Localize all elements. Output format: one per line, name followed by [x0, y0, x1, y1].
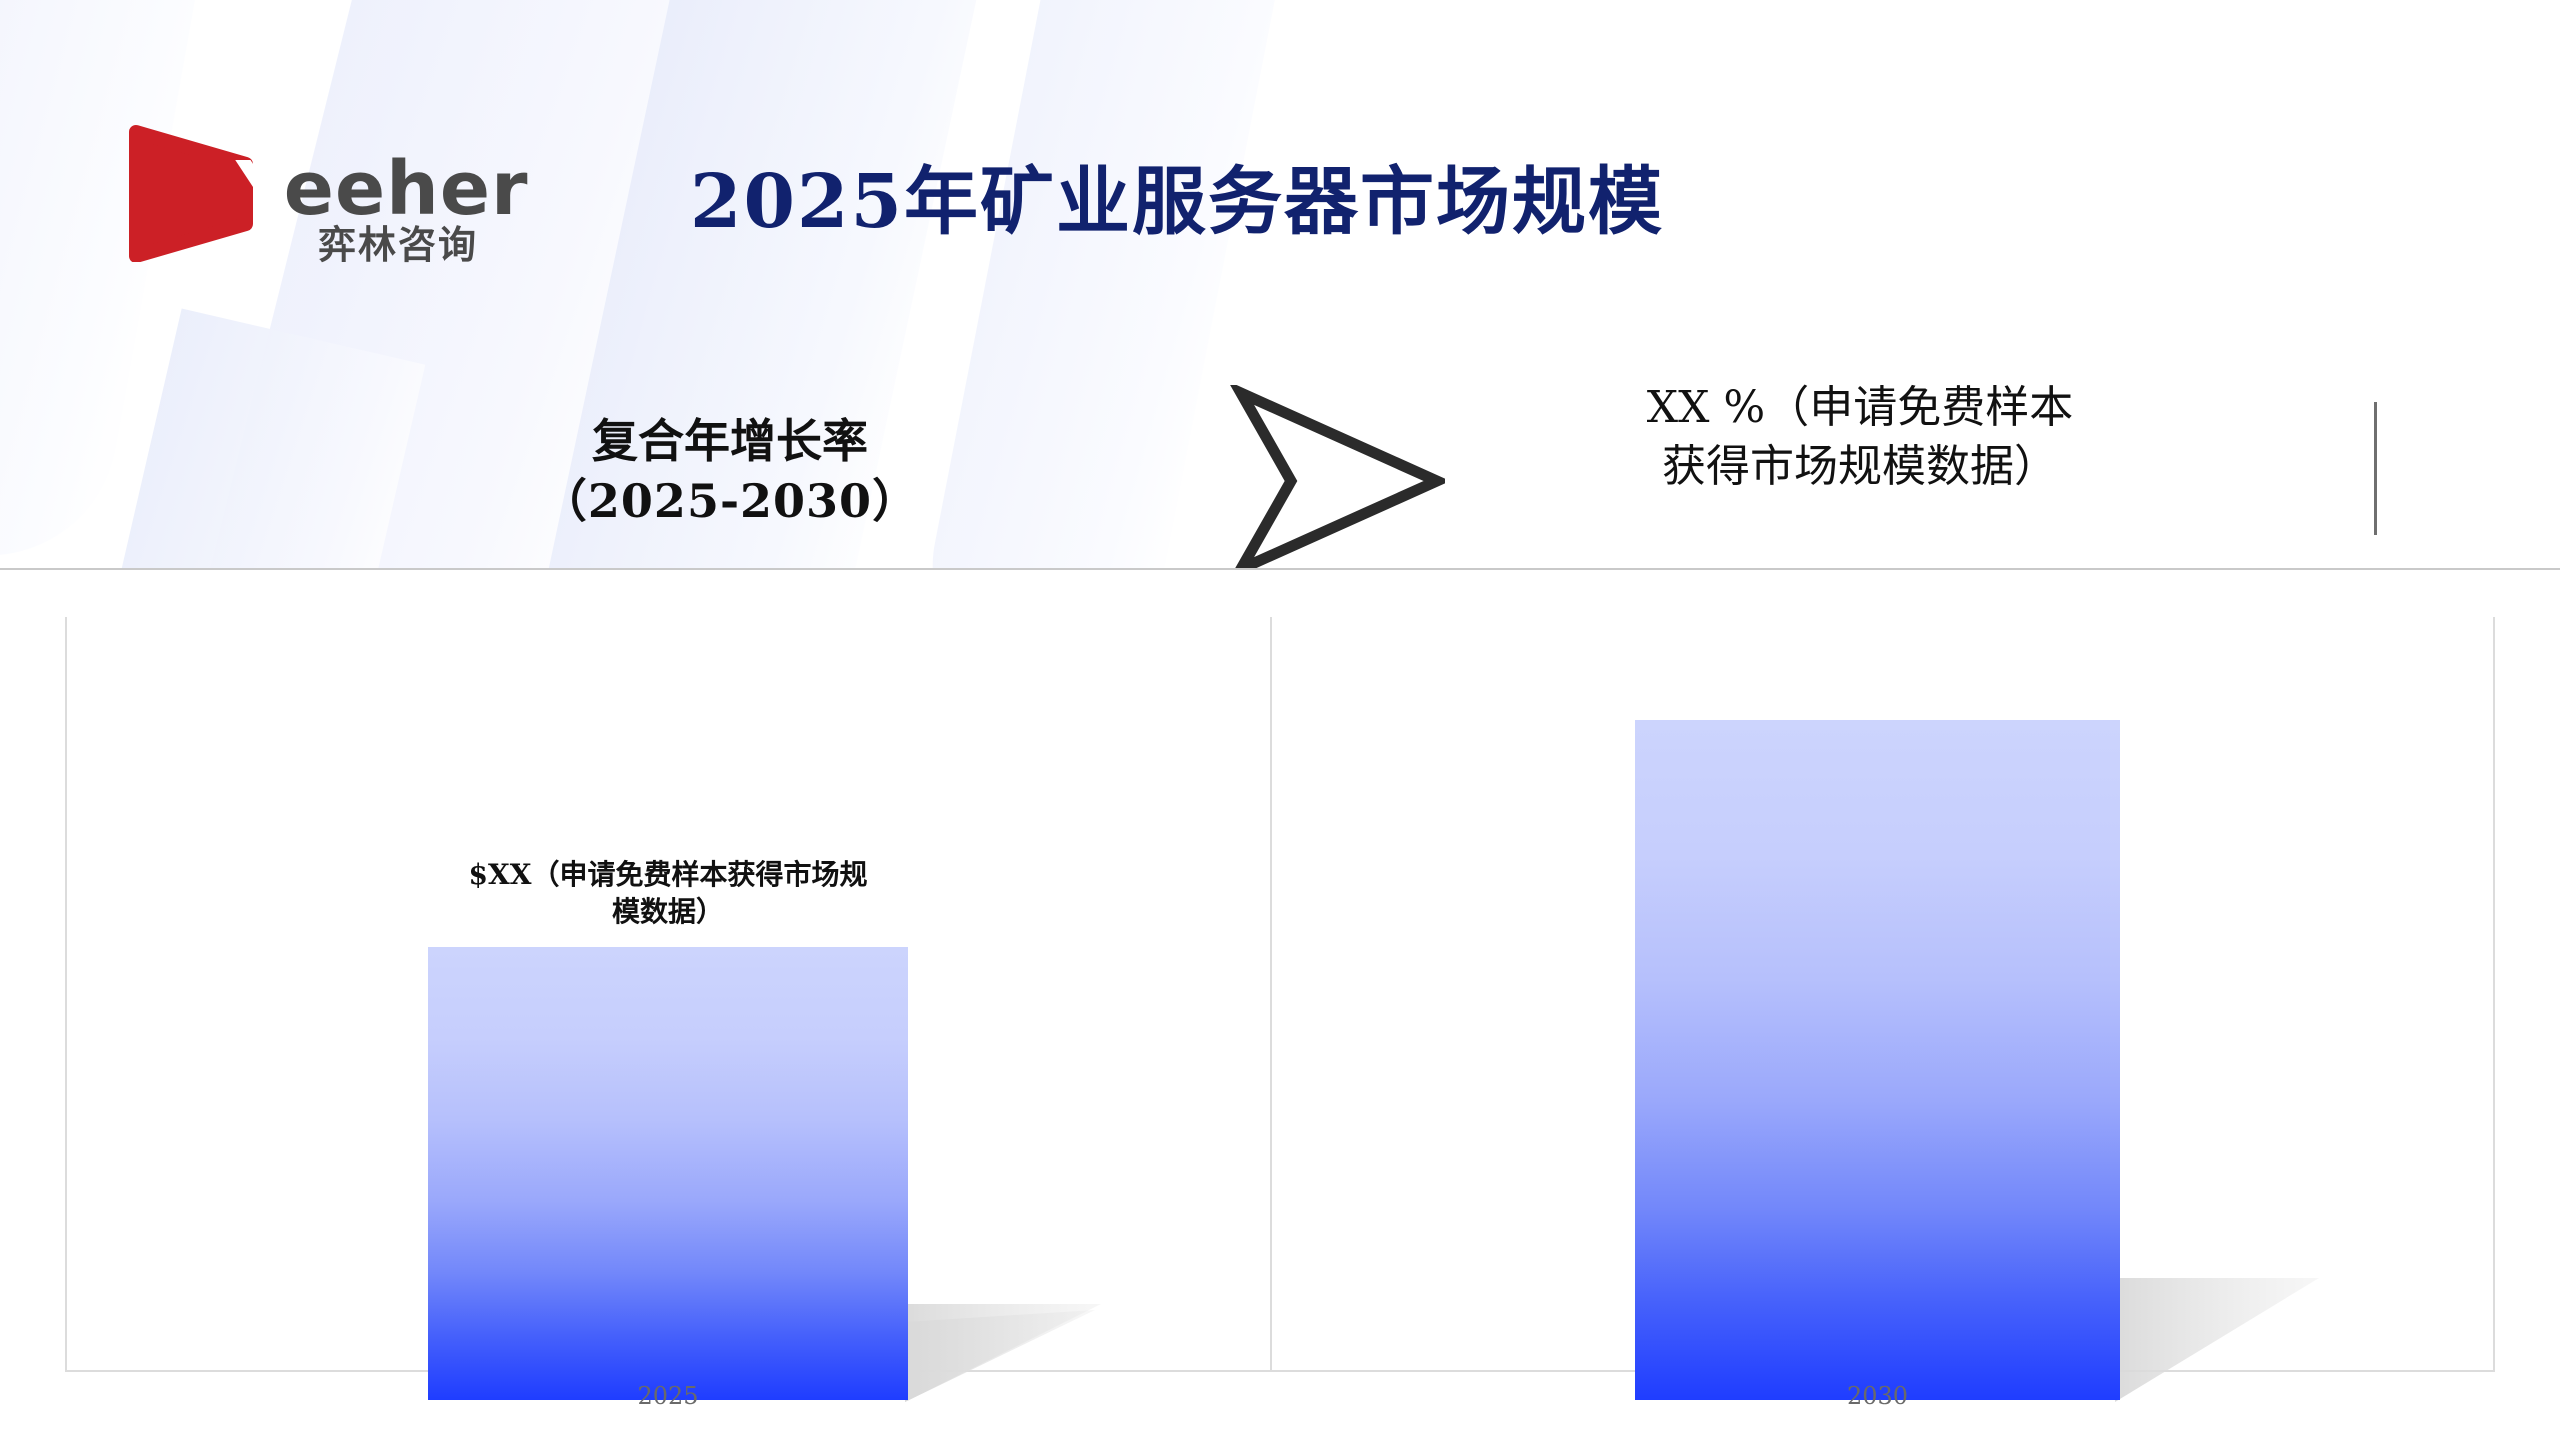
cagr-label: 复合年增长率 — [480, 412, 980, 472]
plot-mid-divider — [1270, 617, 1272, 1372]
company-logo: Yeeher 弈林咨询 — [128, 118, 468, 298]
x-tick-label-2030: 2030 — [1635, 1382, 2120, 1410]
bar-value-label-2025: $XX（申请免费样本获得市场规 模数据） — [428, 857, 908, 930]
logo-wordmark: Yeeher — [236, 152, 529, 226]
bar-2030[interactable] — [1635, 720, 2120, 1400]
bar-value-label-2025-line1: $XX（申请免费样本获得市场规 — [428, 857, 908, 893]
bar-chart: $XX（申请免费样本获得市场规 模数据） 2025 2030 — [0, 570, 2560, 1440]
callout-line-2: 获得市场规模数据） — [1600, 437, 2120, 496]
right-vertical-rule — [2374, 402, 2377, 535]
cagr-block: 复合年增长率 （2025-2030） — [480, 412, 980, 532]
market-size-callout: XX %（申请免费样本 获得市场规模数据） — [1600, 378, 2120, 497]
page-title: 2025年矿业服务器市场规模 — [690, 142, 1664, 249]
callout-line-1: XX %（申请免费样本 — [1600, 378, 2120, 437]
logo-wordmark-rest: eeher — [284, 146, 529, 232]
slide-canvas: Yeeher 弈林咨询 2025年矿业服务器市场规模 复合年增长率 （2025-… — [0, 0, 2560, 1440]
bar-2025[interactable] — [428, 947, 908, 1400]
right-arrow-icon — [1225, 385, 1445, 575]
cagr-period: （2025-2030） — [480, 472, 980, 532]
bar-value-label-2025-line2: 模数据） — [428, 894, 908, 930]
logo-wordmark-initial: Y — [236, 146, 284, 232]
x-tick-label-2025: 2025 — [428, 1382, 908, 1410]
logo-sub-wordmark: 弈林咨询 — [318, 226, 478, 264]
